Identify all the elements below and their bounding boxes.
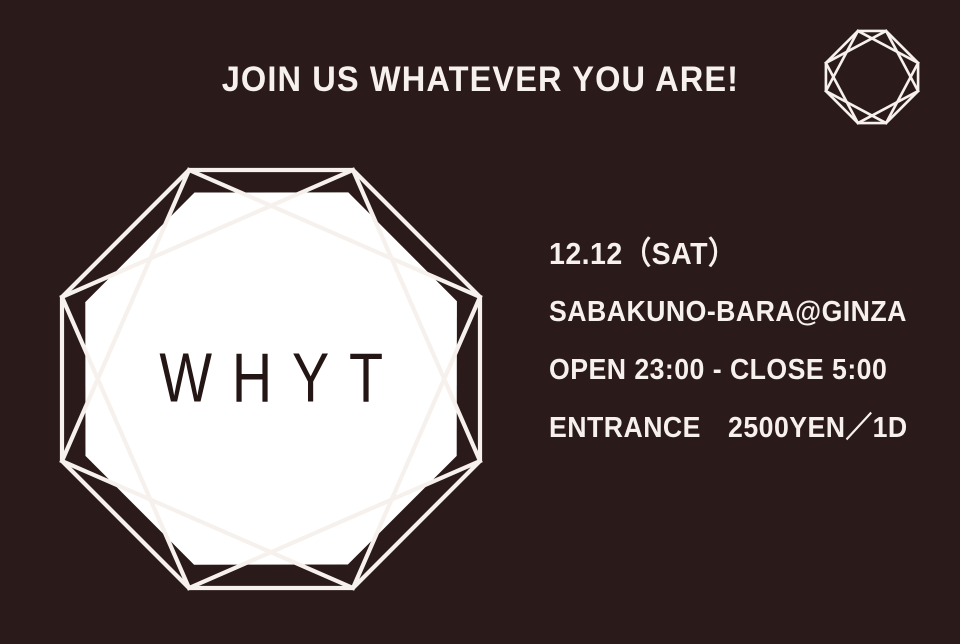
whyt-logo [56, 164, 486, 594]
event-hours: OPEN 23:00 - CLOSE 5:00 [549, 356, 917, 385]
logo-inner-octagon [56, 164, 486, 594]
event-flyer: JOIN US WHATEVER YOU ARE! [0, 0, 960, 644]
event-date: 12.12（SAT） [549, 238, 917, 269]
flyer-headline: JOIN US WHATEVER YOU ARE! [34, 62, 927, 97]
event-venue: SABAKUNO-BARA@GINZA [549, 298, 917, 327]
event-info-block: 12.12（SAT） SABAKUNO-BARA@GINZA OPEN 23:0… [549, 238, 949, 443]
event-entrance-fee: ENTRANCE 2500YEN／1D [549, 414, 917, 443]
octagon-gem-icon [824, 28, 920, 126]
